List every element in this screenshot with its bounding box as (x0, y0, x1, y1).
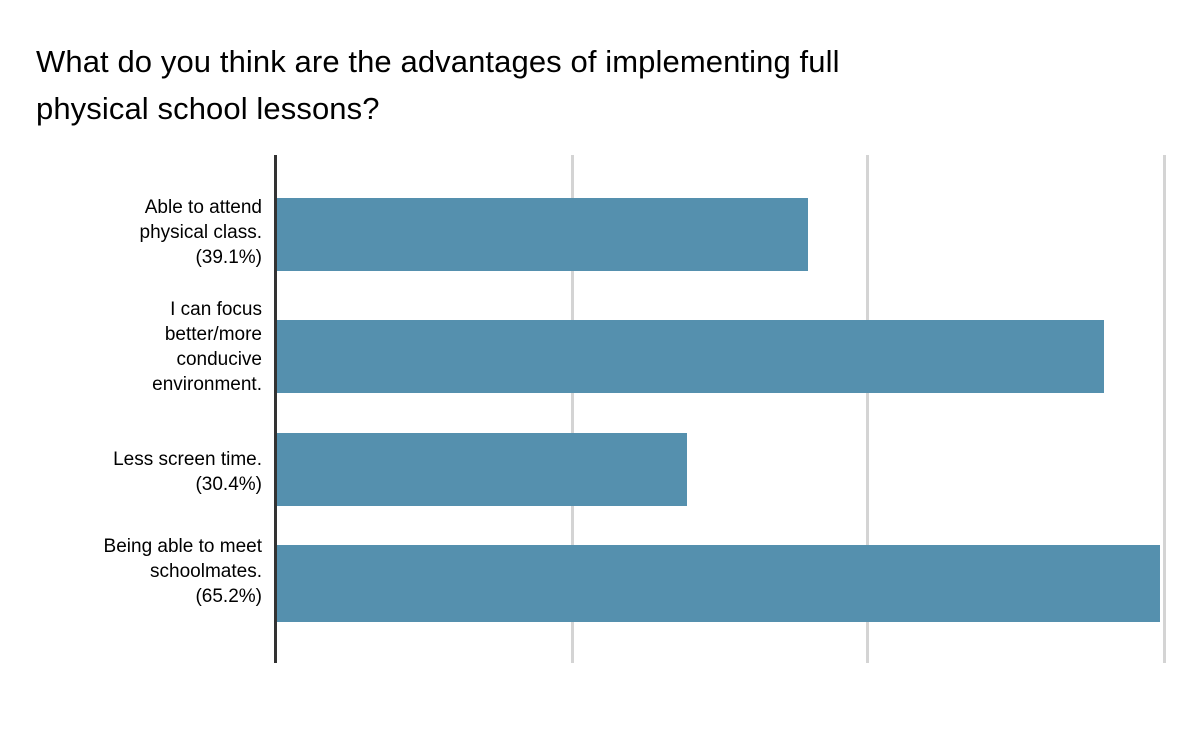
bar-being-able-to-meet-schoolmates[interactable] (274, 545, 1160, 622)
page-title: What do you think are the advantages of … (36, 38, 1096, 132)
bar-row[interactable] (274, 433, 687, 506)
bar-i-can-focus-better-conducive-environment[interactable] (274, 320, 1104, 393)
bar-row[interactable] (274, 545, 1160, 622)
bar-row[interactable] (274, 320, 1104, 393)
gridline-3 (1163, 155, 1166, 663)
category-label-able-to-attend-physical-class: Able to attend physical class. (39.1%) (22, 195, 262, 270)
plot-area (274, 155, 1163, 663)
category-label-i-can-focus-better-conducive-environment: I can focus better/more conducive enviro… (22, 297, 262, 397)
category-axis-line (274, 155, 277, 663)
bar-row[interactable] (274, 198, 808, 271)
chart-page: What do you think are the advantages of … (0, 0, 1200, 742)
bar-able-to-attend-physical-class[interactable] (274, 198, 808, 271)
category-label-being-able-to-meet-schoolmates: Being able to meet schoolmates. (65.2%) (22, 534, 262, 609)
category-label-less-screen-time: Less screen time. (30.4%) (22, 447, 262, 497)
bar-less-screen-time[interactable] (274, 433, 687, 506)
category-labels: Able to attend physical class. (39.1%) I… (22, 155, 262, 663)
